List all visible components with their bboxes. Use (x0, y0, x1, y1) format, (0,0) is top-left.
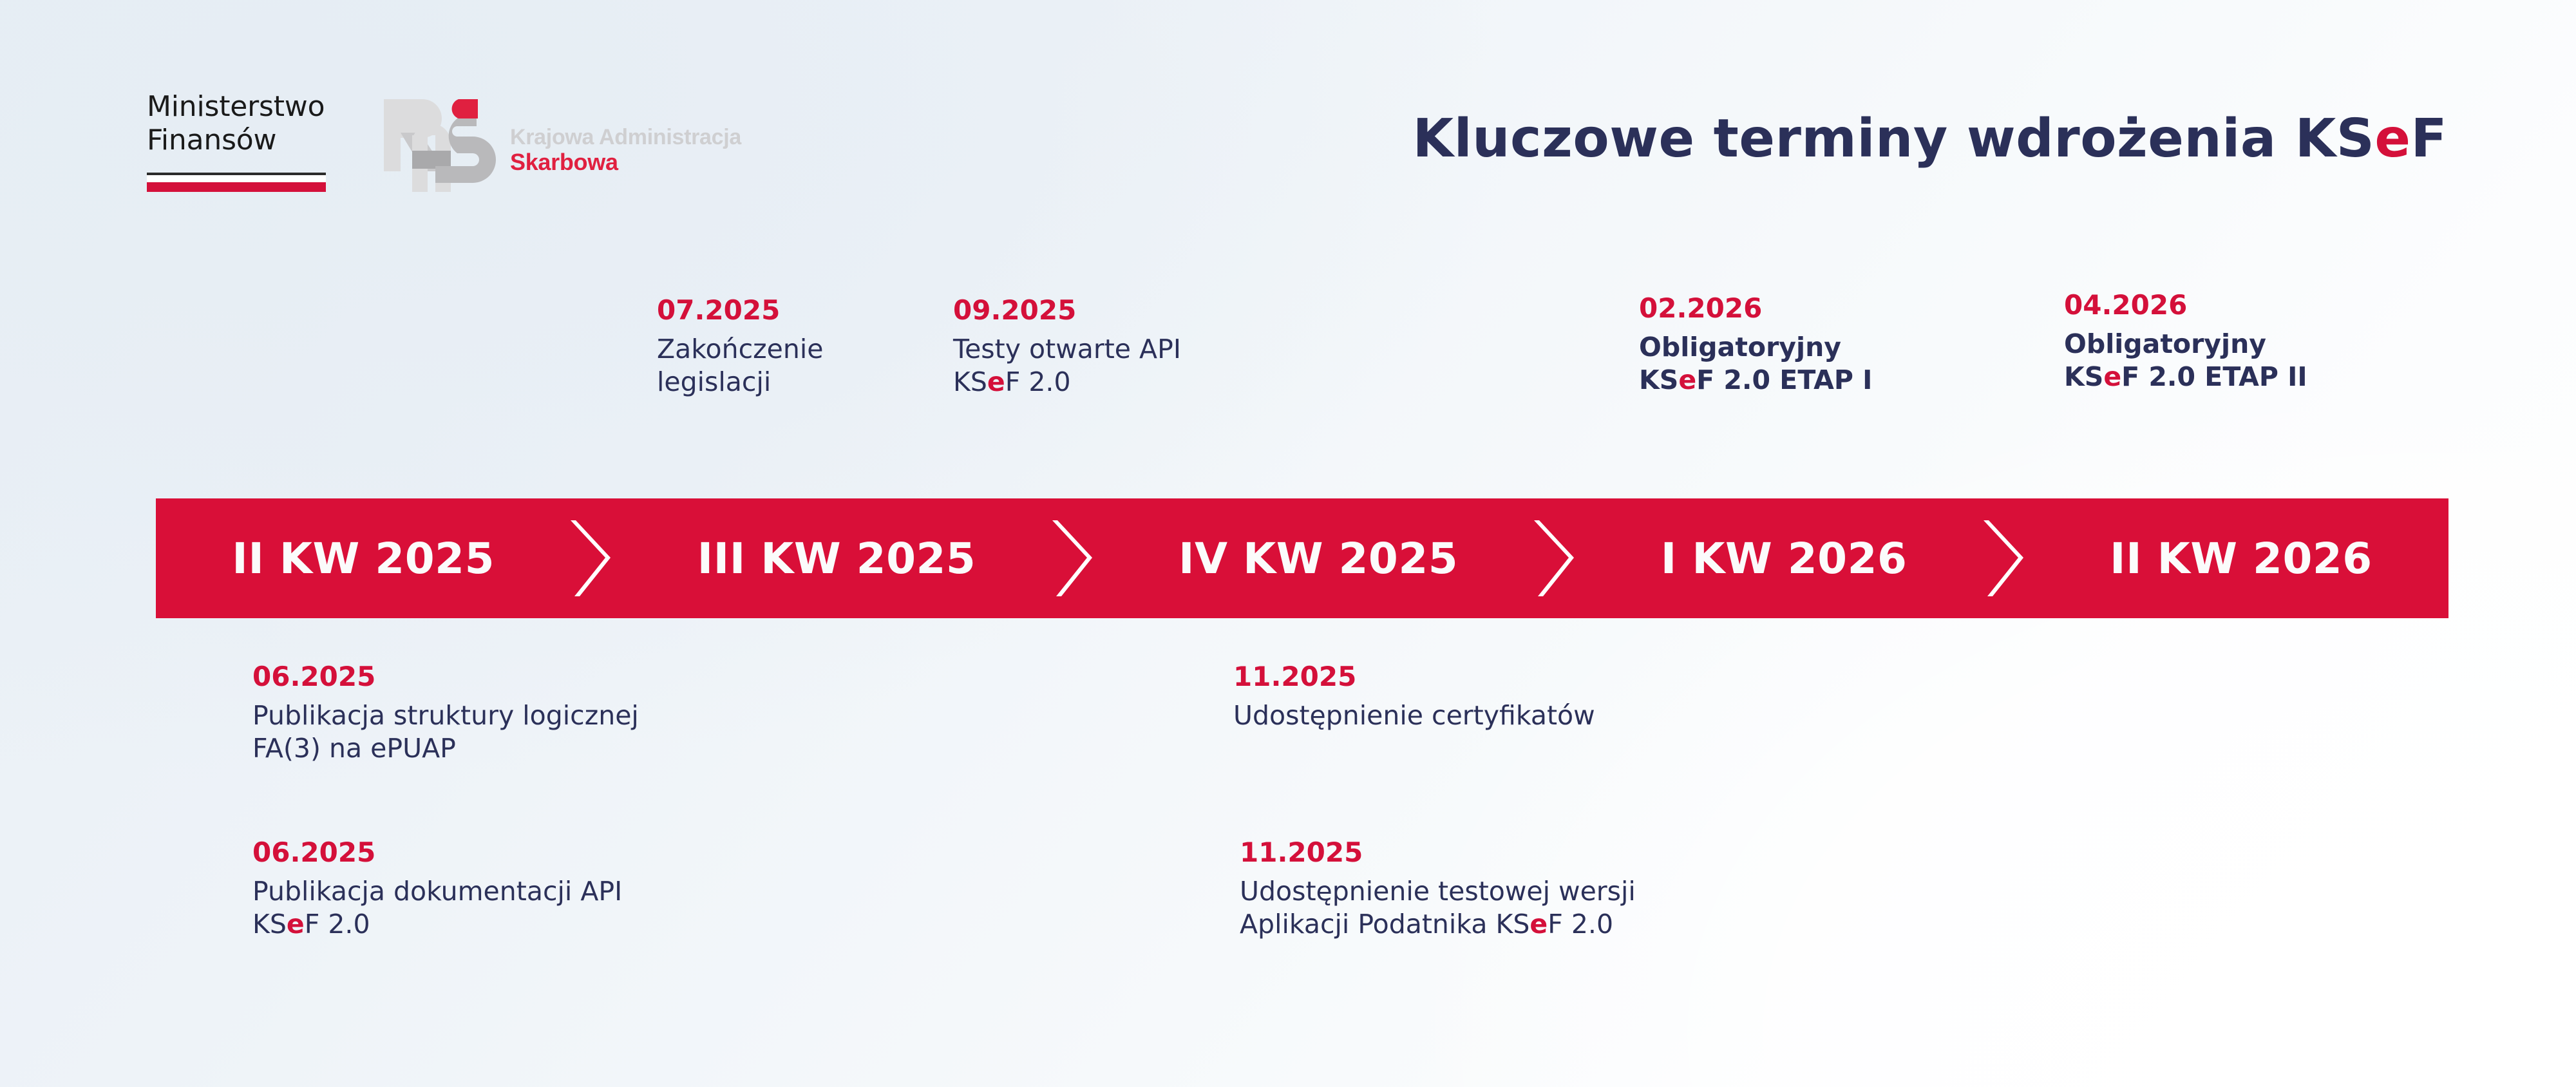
milestone-line-2-text: KS (252, 909, 287, 940)
timeline-quarter-bar: II KW 2025 III KW 2025 IV KW 2025 I KW 2… (156, 498, 2448, 618)
chevron-right-icon (1984, 520, 2034, 596)
milestone-line-1: Publikacja struktury logicznej (252, 699, 639, 732)
page-title: Kluczowe terminy wdrożenia KSeF (1413, 108, 2447, 169)
national-revenue-administration-logo: Krajowa Administracja Skarbowa (381, 95, 723, 198)
milestone-body: Udostępnienie certyfikatów (1233, 699, 1595, 732)
milestone-below-3: 11.2025 Udostępnienie testowej wersji Ap… (1240, 837, 1636, 941)
milestone-date: 06.2025 (252, 661, 639, 692)
kas-wordmark: Krajowa Administracja Skarbowa (510, 126, 741, 174)
milestone-above-0: 07.2025 Zakończenie legislacji (657, 295, 823, 399)
milestone-line-2-text: KS (953, 366, 987, 397)
milestone-line-2-highlight: e (287, 909, 305, 940)
milestone-body: Udostępnienie testowej wersji Aplikacji … (1240, 875, 1636, 941)
milestone-line-2-highlight: e (1529, 909, 1548, 940)
milestone-line-2-text: KS (1639, 364, 1678, 395)
milestone-line-1-text: Obligatoryjny (2064, 328, 2266, 359)
timeline-quarter-2[interactable]: IV KW 2025 (1103, 534, 1535, 583)
milestone-line-1: Udostępnienie testowej wersji (1240, 875, 1636, 908)
milestone-line-2-text: legislacji (657, 366, 771, 397)
milestone-body: Publikacja dokumentacji API KSeF 2.0 (252, 875, 622, 941)
milestone-line-2-tail: F 2.0 (1548, 909, 1613, 940)
milestone-line-2: FA(3) na ePUAP (252, 732, 639, 765)
timeline-quarter-0[interactable]: II KW 2025 (156, 534, 571, 583)
milestone-date: 09.2025 (953, 295, 1181, 325)
milestone-below-1: 06.2025 Publikacja dokumentacji API KSeF… (252, 837, 622, 941)
milestone-line-2-tail: F 2.0 ETAP II (2121, 361, 2307, 392)
milestone-line-2-tail: F 2.0 (305, 909, 370, 940)
milestone-body: Obligatoryjny KSeF 2.0 ETAP II (2064, 328, 2307, 394)
flag-stripe-white (147, 175, 326, 182)
milestone-line-2-text: FA(3) na ePUAP (252, 733, 456, 764)
milestone-line-1-text: Publikacja dokumentacji API (252, 876, 622, 907)
milestone-date: 07.2025 (657, 295, 823, 325)
chevron-right-icon (1052, 520, 1103, 596)
page-title-main: Kluczowe terminy wdrożenia KS (1413, 108, 2375, 169)
kas-wordmark-line-2: Skarbowa (510, 151, 741, 175)
milestone-above-3: 04.2026 Obligatoryjny KSeF 2.0 ETAP II (2064, 290, 2307, 394)
page-title-tail: F (2410, 108, 2447, 169)
milestone-line-1: Testy otwarte API (953, 333, 1181, 366)
ministry-of-finance-logo: Ministerstwo Finansów (147, 90, 346, 192)
milestone-line-1: Zakończenie (657, 333, 823, 366)
ministry-logo-line-2: Finansów (147, 124, 346, 157)
page-title-highlight: e (2374, 108, 2410, 169)
milestone-above-2: 02.2026 Obligatoryjny KSeF 2.0 ETAP I (1639, 293, 1872, 397)
milestone-line-2: KSeF 2.0 ETAP II (2064, 361, 2307, 393)
milestone-line-2-tail: F 2.0 ETAP I (1696, 364, 1872, 395)
milestone-line-1-text: Udostępnienie certyfikatów (1233, 700, 1595, 731)
milestone-line-1: Obligatoryjny (1639, 331, 1872, 364)
milestone-line-1: Obligatoryjny (2064, 328, 2307, 361)
milestone-line-1-text: Zakończenie (657, 334, 823, 364)
chevron-right-icon (1534, 520, 1584, 596)
milestone-line-2-text: Aplikacji Podatnika KS (1240, 909, 1529, 940)
milestone-body: Publikacja struktury logicznej FA(3) na … (252, 699, 639, 766)
polish-flag-icon (147, 173, 326, 192)
timeline-quarter-3[interactable]: I KW 2026 (1584, 534, 1983, 583)
milestone-line-2-text: KS (2064, 361, 2103, 392)
chevron-right-icon (571, 520, 621, 596)
milestone-line-2: KSeF 2.0 ETAP I (1639, 364, 1872, 397)
milestone-below-0: 06.2025 Publikacja struktury logicznej F… (252, 661, 639, 766)
milestone-date: 06.2025 (252, 837, 622, 867)
milestone-line-2-highlight: e (2103, 361, 2121, 392)
milestone-above-1: 09.2025 Testy otwarte API KSeF 2.0 (953, 295, 1181, 399)
flag-stripe-red (147, 182, 326, 192)
milestone-line-1-text: Udostępnienie testowej wersji (1240, 876, 1636, 907)
milestone-line-1-text: Obligatoryjny (1639, 332, 1841, 363)
milestone-line-2-highlight: e (1678, 364, 1696, 395)
ministry-logo-line-1: Ministerstwo (147, 90, 346, 124)
milestone-below-2: 11.2025 Udostępnienie certyfikatów (1233, 661, 1595, 732)
milestone-line-2: Aplikacji Podatnika KSeF 2.0 (1240, 908, 1636, 941)
milestone-line-1-text: Publikacja struktury logicznej (252, 700, 639, 731)
milestone-line-2-tail: F 2.0 (1005, 366, 1071, 397)
milestone-body: Obligatoryjny KSeF 2.0 ETAP I (1639, 331, 1872, 397)
infographic-canvas: Ministerstwo Finansów (0, 0, 2576, 1087)
milestone-line-2: KSeF 2.0 (252, 908, 622, 941)
milestone-date: 11.2025 (1233, 661, 1595, 692)
milestone-date: 04.2026 (2064, 290, 2307, 320)
kas-wordmark-line-1: Krajowa Administracja (510, 126, 741, 149)
milestone-line-2: legislacji (657, 366, 823, 399)
kas-emblem-icon (381, 95, 504, 195)
milestone-body: Testy otwarte API KSeF 2.0 (953, 333, 1181, 399)
milestone-body: Zakończenie legislacji (657, 333, 823, 399)
milestone-date: 11.2025 (1240, 837, 1636, 867)
timeline-quarter-1[interactable]: III KW 2025 (621, 534, 1052, 583)
milestone-line-1: Udostępnienie certyfikatów (1233, 699, 1595, 732)
milestone-line-2: KSeF 2.0 (953, 366, 1181, 399)
milestone-line-1-text: Testy otwarte API (953, 334, 1181, 364)
timeline-quarter-4[interactable]: II KW 2026 (2034, 534, 2448, 583)
milestone-date: 02.2026 (1639, 293, 1872, 323)
milestone-line-1: Publikacja dokumentacji API (252, 875, 622, 908)
milestone-line-2-highlight: e (987, 366, 1005, 397)
